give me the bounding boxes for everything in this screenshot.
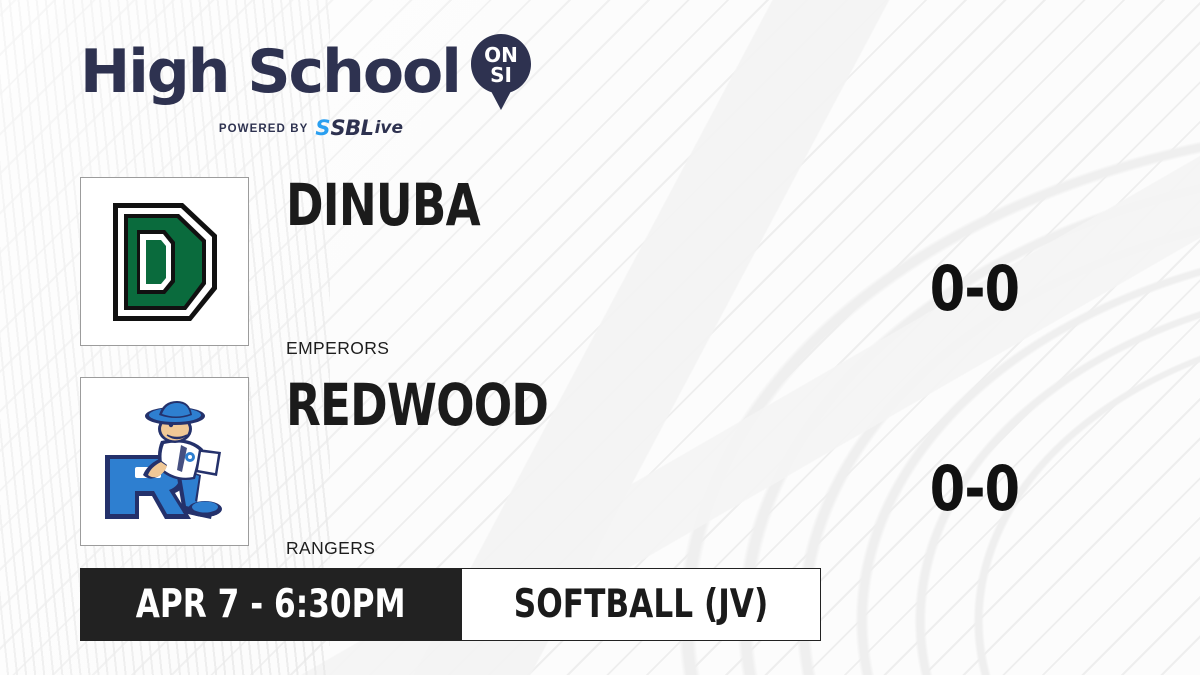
away-team-record: 0-0	[930, 258, 1019, 320]
game-sport-chip: SOFTBALL (JV)	[461, 568, 821, 641]
game-datetime-chip: APR 7 - 6:30PM	[80, 568, 461, 641]
away-team-logo-box	[80, 177, 249, 346]
brand-title: High School	[80, 44, 460, 101]
on-si-pin-icon: ON SI	[470, 33, 532, 111]
brand-lockup: High School ON SI POWERED BY S SBL ive	[80, 33, 532, 139]
matchup-graphic: High School ON SI POWERED BY S SBL ive	[0, 0, 1200, 675]
game-info-bar: APR 7 - 6:30PM SOFTBALL (JV)	[80, 568, 821, 641]
sblive-logo: S SBL ive	[315, 118, 403, 139]
away-team-name: DINUBA	[286, 176, 480, 234]
game-sport-text: SOFTBALL (JV)	[514, 585, 768, 624]
home-team-mascot: RANGERS	[286, 538, 375, 559]
home-team-record: 0-0	[930, 458, 1019, 520]
game-datetime-text: APR 7 - 6:30PM	[136, 585, 406, 624]
away-team-mascot: EMPERORS	[286, 338, 389, 359]
powered-by-label: POWERED BY	[219, 123, 309, 135]
home-team-logo-box	[80, 377, 249, 546]
pin-text-si: SI	[490, 63, 512, 87]
sblive-wordmark-tail: ive	[375, 120, 403, 137]
powered-by-row: POWERED BY S SBL ive	[80, 118, 532, 139]
dinuba-d-logo-icon	[105, 197, 225, 327]
redwood-ranger-logo-icon	[95, 397, 235, 527]
sblive-s-mark: S	[315, 118, 328, 139]
home-team-name: REDWOOD	[286, 376, 548, 434]
sblive-wordmark: SBL	[331, 118, 374, 139]
